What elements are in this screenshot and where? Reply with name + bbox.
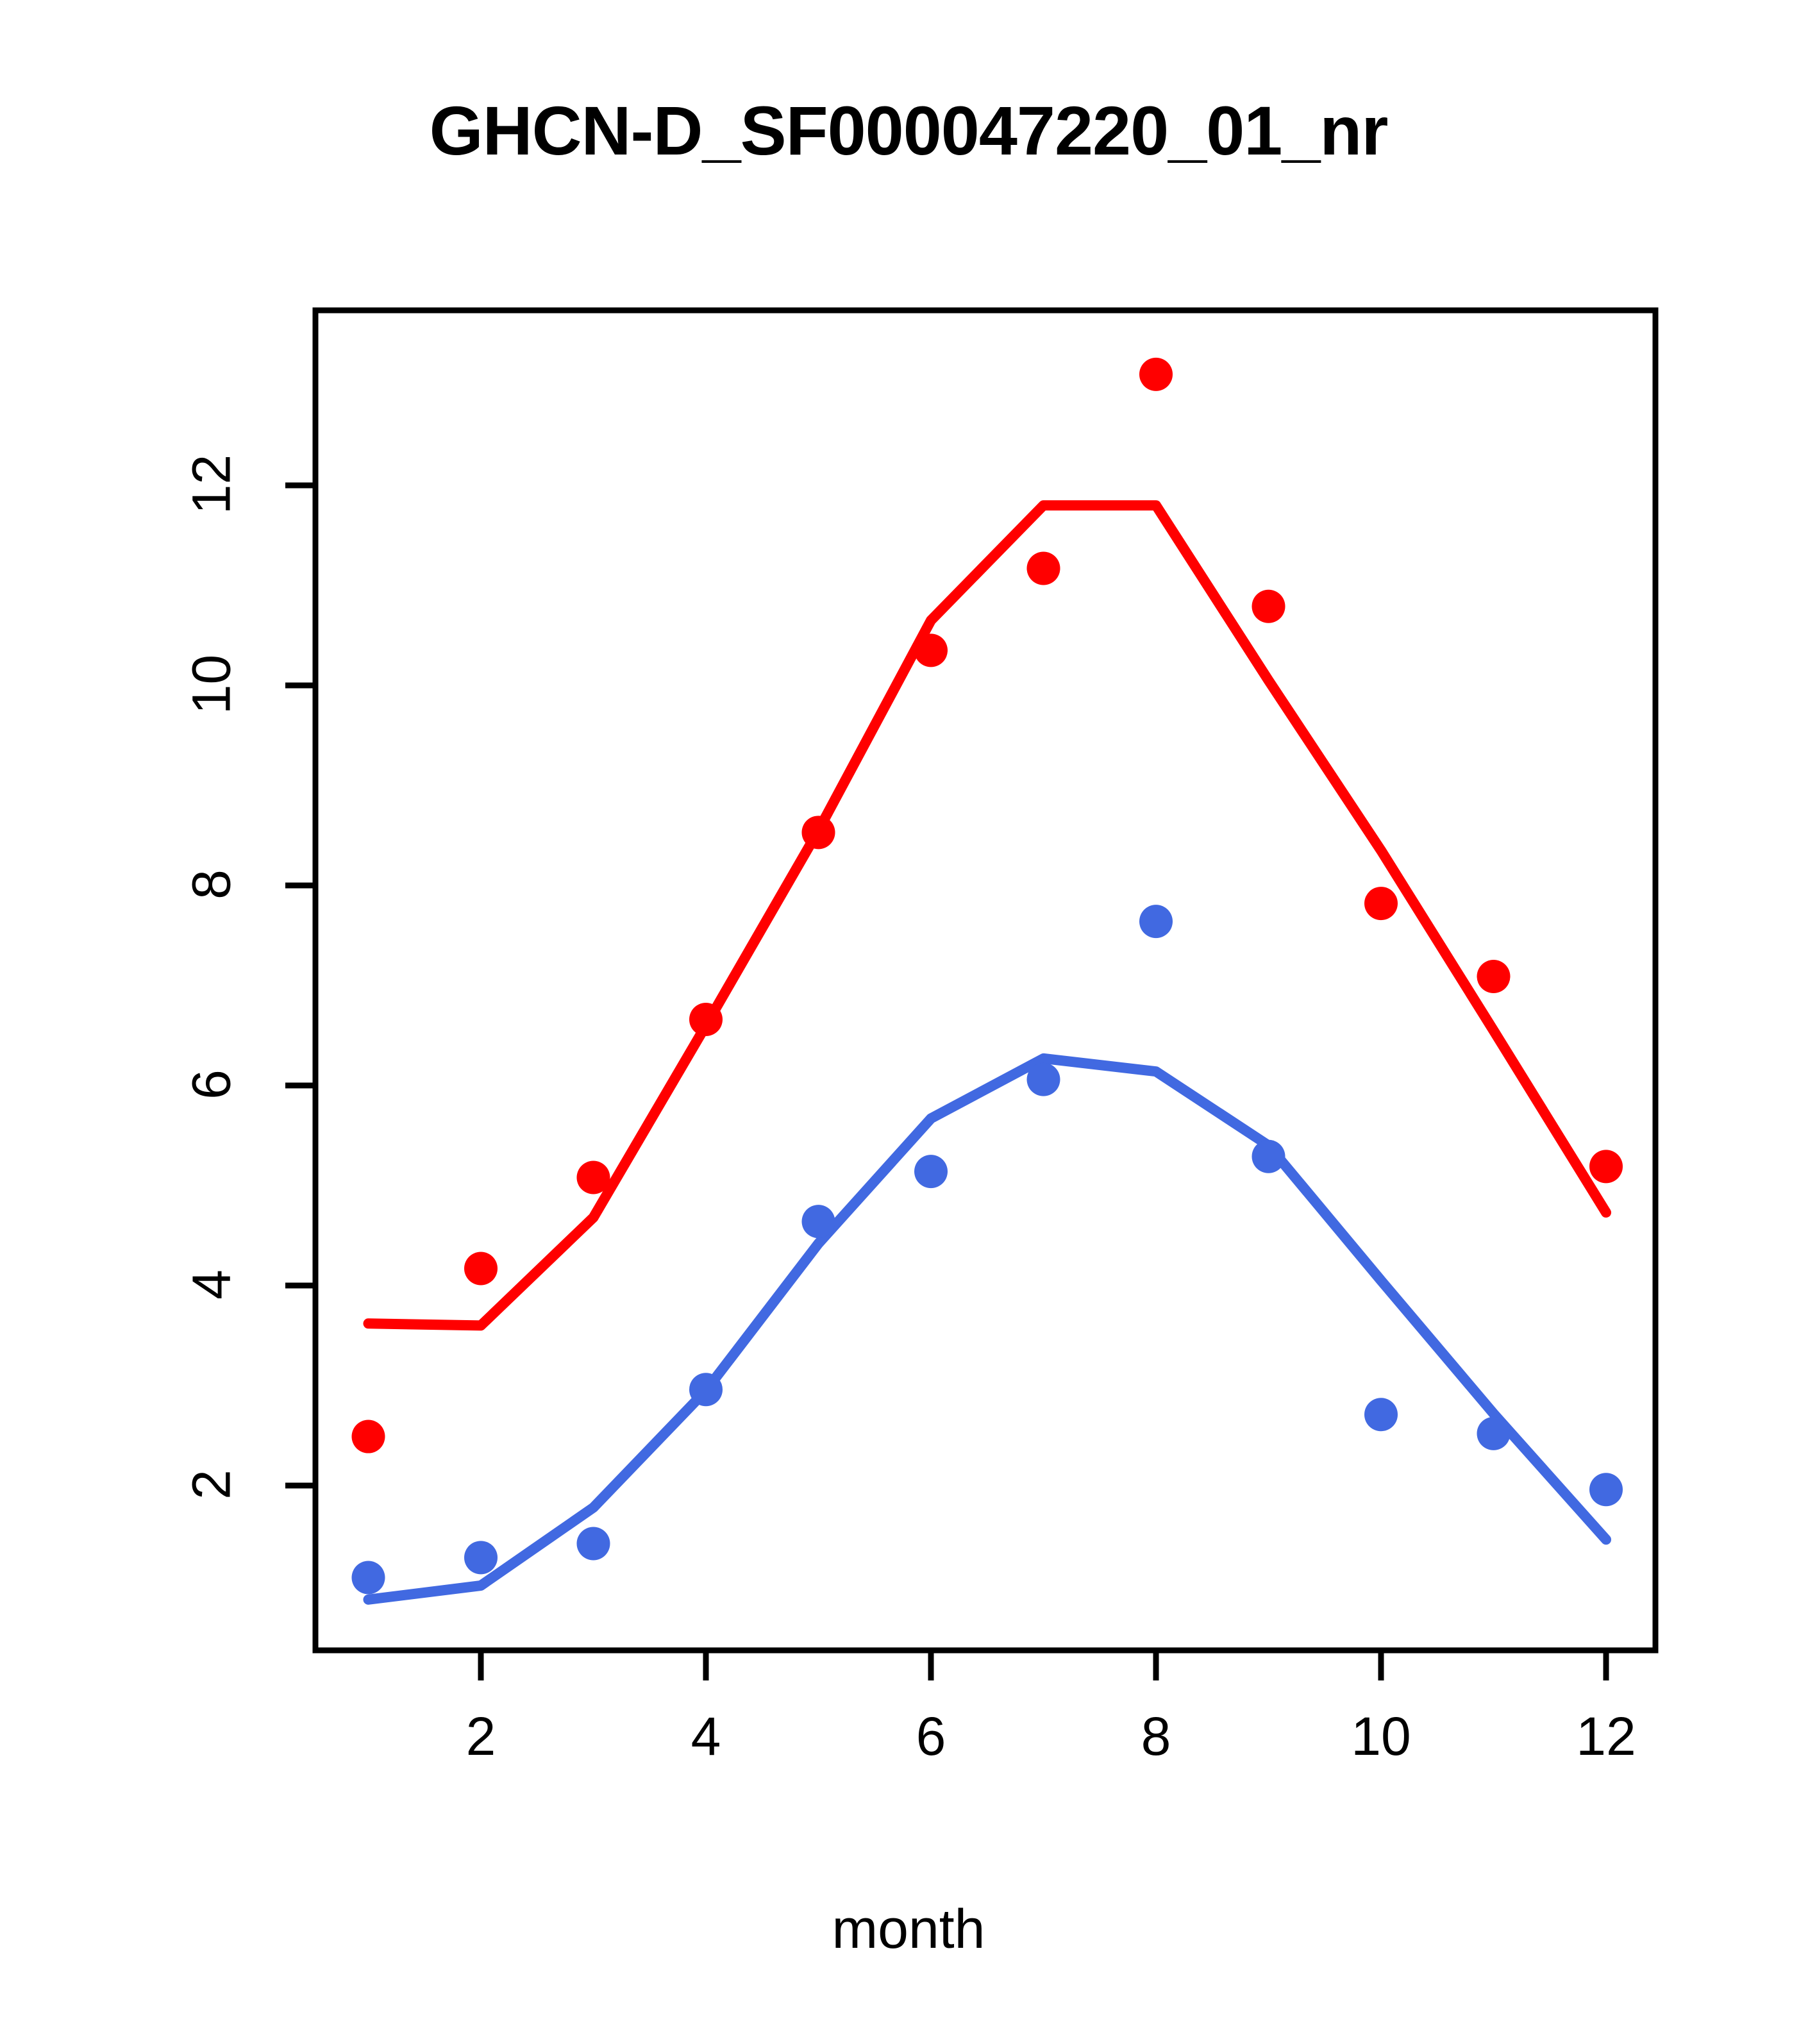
- y-tick-label: 10: [181, 640, 243, 730]
- data-point-blue-points: [577, 1527, 610, 1560]
- x-tick-label: 12: [1536, 1705, 1677, 1768]
- data-point-blue-points: [464, 1541, 498, 1574]
- series-line-red-line: [369, 505, 1607, 1325]
- data-point-red-points: [914, 633, 948, 667]
- y-tick-label: 6: [181, 1040, 243, 1130]
- x-tick-label: 8: [1085, 1705, 1227, 1768]
- x-axis-ticks: [481, 1650, 1606, 1680]
- data-point-red-points: [802, 816, 835, 849]
- data-point-red-points: [1364, 887, 1398, 920]
- plot-frame: [315, 310, 1655, 1650]
- y-tick-label: 4: [181, 1240, 243, 1330]
- x-tick-label: 10: [1310, 1705, 1452, 1768]
- data-point-blue-points: [1027, 1063, 1060, 1096]
- data-point-red-points: [1589, 1150, 1623, 1183]
- x-tick-label: 6: [860, 1705, 1001, 1768]
- data-point-blue-points: [802, 1205, 835, 1238]
- data-point-blue-points: [1589, 1473, 1623, 1506]
- data-point-blue-points: [1477, 1417, 1511, 1450]
- y-tick-label: 12: [181, 440, 243, 530]
- series-lines: [369, 505, 1607, 1600]
- x-axis-title: month: [0, 1898, 1817, 1961]
- data-point-blue-points: [352, 1561, 385, 1595]
- series-line-blue-line: [369, 1059, 1607, 1600]
- series-points: [352, 358, 1623, 1595]
- data-point-blue-points: [914, 1155, 948, 1188]
- chart-area: 24681012 24681012: [0, 0, 1817, 2044]
- x-tick-label: 4: [635, 1705, 776, 1768]
- data-point-red-points: [689, 1003, 723, 1036]
- data-point-red-points: [1477, 960, 1511, 993]
- data-point-red-points: [577, 1161, 610, 1194]
- data-point-red-points: [1027, 551, 1060, 585]
- data-point-blue-points: [1139, 905, 1173, 938]
- y-axis-ticks: [285, 485, 315, 1486]
- data-point-red-points: [352, 1420, 385, 1453]
- x-tick-label: 2: [410, 1705, 551, 1768]
- plot-canvas: GHCN-D_SF000047220_01_nr 24681012 246810…: [0, 0, 1817, 2044]
- data-point-blue-points: [1252, 1140, 1285, 1173]
- y-tick-label: 8: [181, 840, 243, 930]
- data-point-red-points: [464, 1252, 498, 1285]
- plot-box: [315, 310, 1655, 1650]
- data-point-blue-points: [1364, 1398, 1398, 1431]
- data-point-red-points: [1139, 358, 1173, 391]
- data-point-blue-points: [689, 1373, 723, 1406]
- data-point-red-points: [1252, 590, 1285, 623]
- y-tick-label: 2: [181, 1440, 243, 1530]
